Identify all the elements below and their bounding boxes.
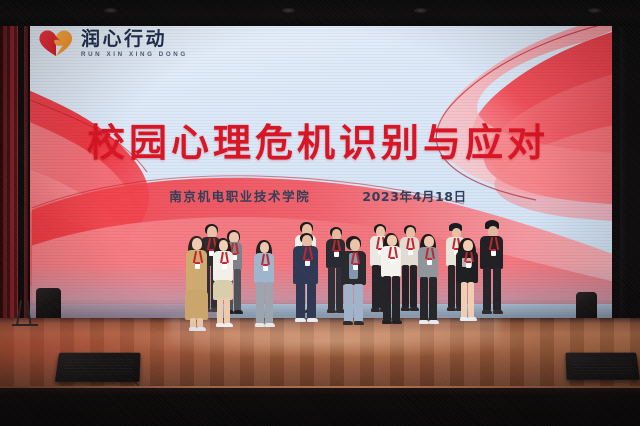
speaker-grille-icon xyxy=(63,359,134,375)
stage-edge-highlight xyxy=(0,386,640,388)
speaker-grille-icon xyxy=(571,358,633,373)
stage-front-apron xyxy=(0,386,640,426)
stage-photograph: 润心行动 RUN XIN XING DONG 校园心理危机识别与应对 南京机电职… xyxy=(0,0,640,426)
stage-monitor-right xyxy=(565,353,639,380)
